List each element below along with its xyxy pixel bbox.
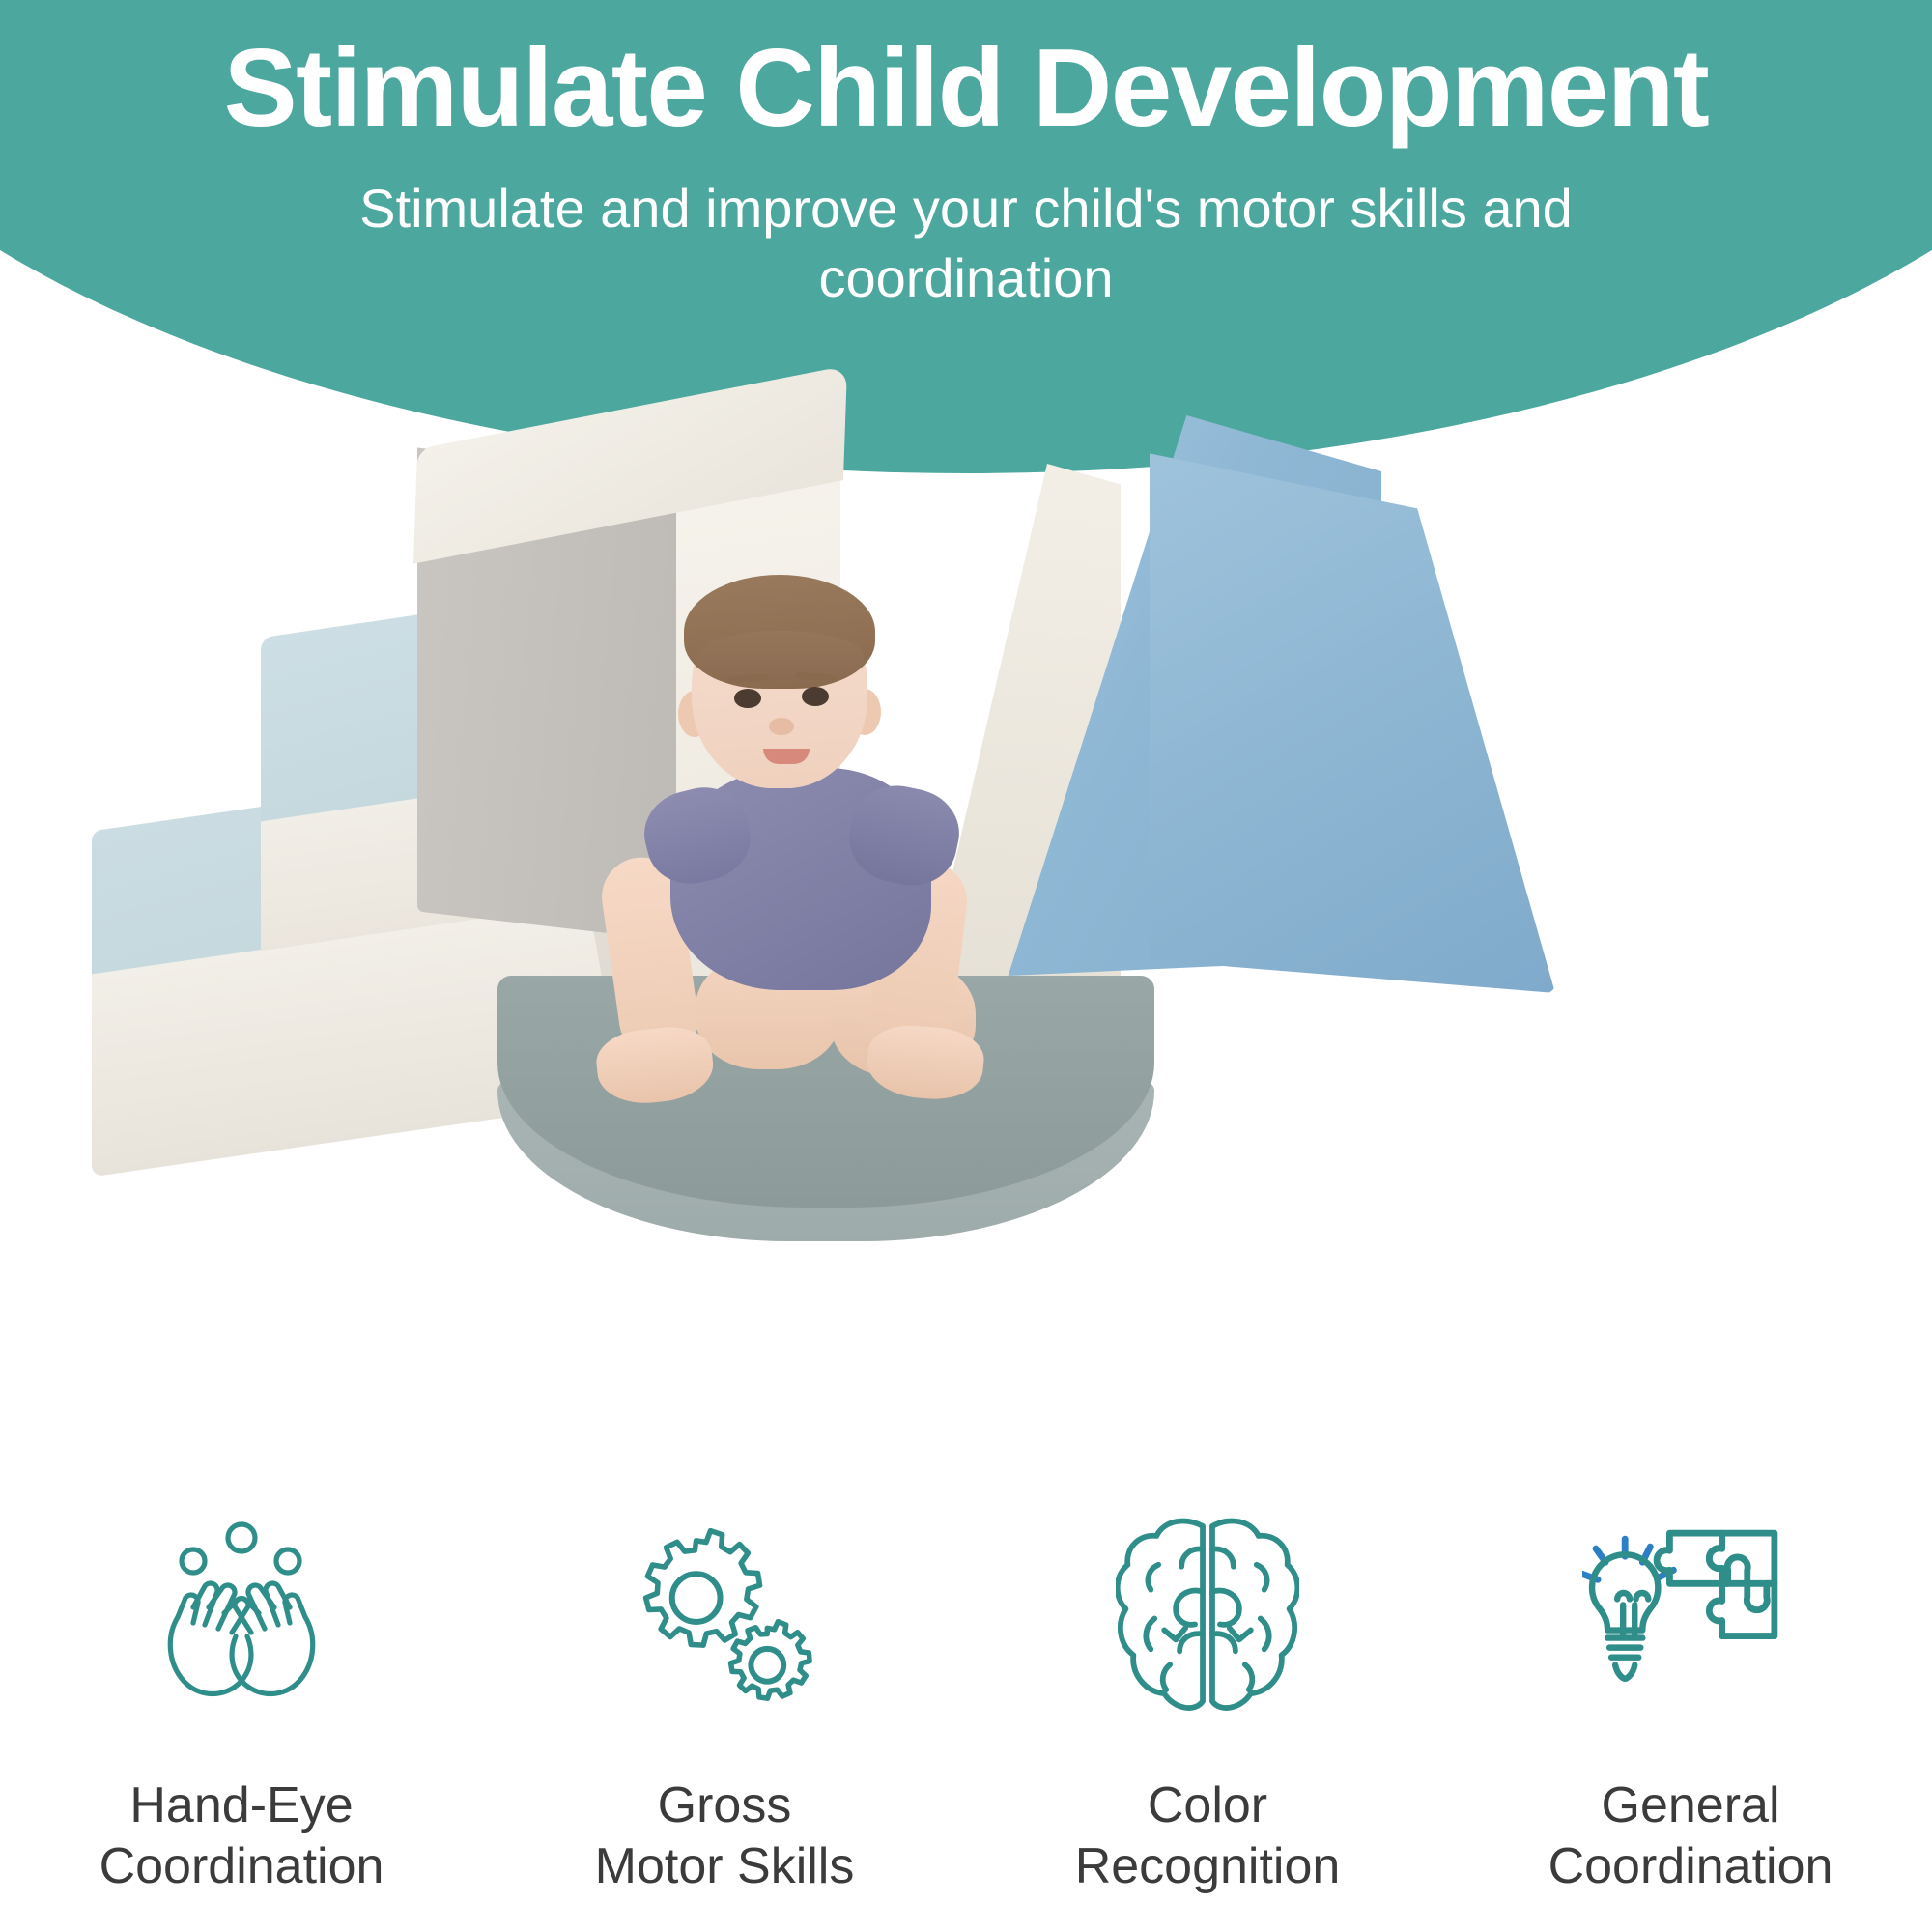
feature-item-hand-eye: Hand-Eye Coordination <box>10 1507 473 1898</box>
child-eye-left <box>734 689 761 708</box>
header-banner-shape <box>0 0 1932 473</box>
ramp-back-face <box>1150 442 1555 993</box>
feature-label-color-recognition: Color Recognition <box>1075 1776 1341 1898</box>
child-nose <box>769 718 794 735</box>
feature-item-color-recognition: Color Recognition <box>976 1507 1439 1898</box>
marketing-banner: Stimulate Child Development Stimulate an… <box>0 0 1932 1932</box>
feature-label-hand-eye: Hand-Eye Coordination <box>99 1776 384 1898</box>
feature-item-gross-motor: Gross Motor Skills <box>493 1507 956 1898</box>
gears-icon <box>621 1507 829 1729</box>
feature-label-general-coordination: General Coordination <box>1548 1776 1833 1898</box>
lightbulb-puzzle-icon <box>1582 1507 1800 1729</box>
child-hair-fringe <box>697 631 864 681</box>
clapping-hands-icon <box>135 1507 348 1729</box>
feature-list: Hand-Eye Coordination Gross Motor Skills <box>0 1507 1932 1932</box>
child-hand-left <box>593 1023 716 1108</box>
feature-label-gross-motor: Gross Motor Skills <box>595 1776 855 1898</box>
brain-icon <box>1116 1507 1299 1729</box>
feature-item-general-coordination: General Coordination <box>1459 1507 1922 1898</box>
product-photo <box>0 406 1932 1468</box>
child-eye-right <box>802 687 829 706</box>
child-figure <box>589 575 995 1212</box>
